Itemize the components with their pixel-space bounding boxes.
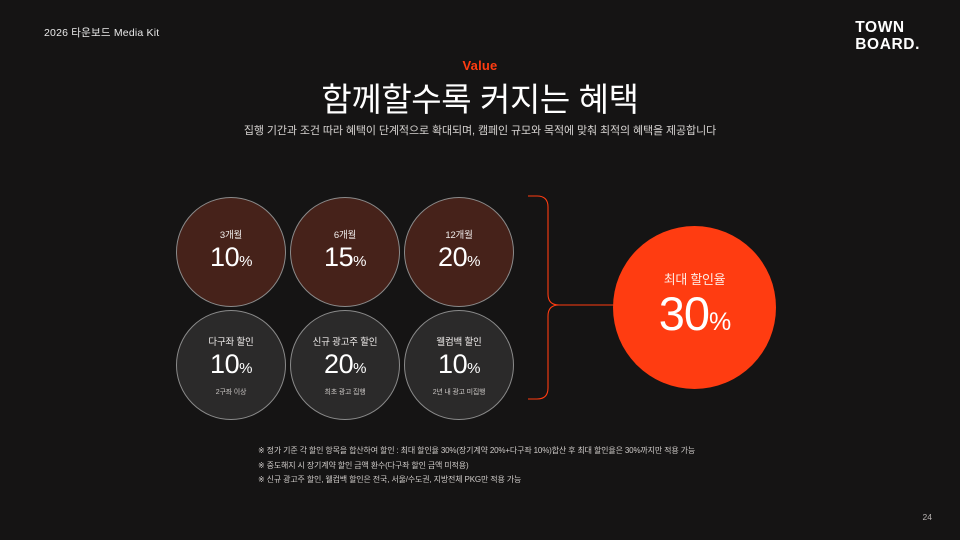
- page-subtitle: 집행 기간과 조건 따라 혜택이 단계적으로 확대되며, 캠페인 규모와 목적에…: [0, 122, 960, 138]
- bracket-connector-icon: [515, 185, 625, 410]
- footnote-item: ※ 중도해지 시 장기계약 할인 금액 환수(다구좌 할인 금액 미적용): [258, 459, 695, 474]
- bonus-value-number: 10: [438, 349, 467, 379]
- page-number: 24: [923, 512, 932, 522]
- logo-line-1: TOWN: [855, 19, 904, 36]
- tier-circle-3m: 3개월 10%: [176, 197, 286, 307]
- tier-value: 10%: [210, 242, 252, 277]
- footnote-item: ※ 신규 광고주 할인, 웰컴백 할인은 전국, 서울/수도권, 지방전체 PK…: [258, 473, 695, 488]
- bonus-label: 다구좌 할인: [208, 334, 253, 348]
- bonus-note: 2년 내 광고 미집행: [433, 387, 486, 397]
- max-discount-label: 최대 할인율: [664, 269, 726, 288]
- tier-circle-12m: 12개월 20%: [404, 197, 514, 307]
- document-title: 2026 타운보드 Media Kit: [44, 25, 159, 40]
- max-discount-circle: 최대 할인율 30%: [613, 226, 776, 389]
- bonus-circle-welcome-back: 웰컴백 할인 10% 2년 내 광고 미집행: [404, 310, 514, 420]
- footnote-list: ※ 정가 기준 각 할인 항목을 합산하여 할인 : 최대 할인율 30%(장기…: [258, 444, 695, 488]
- bonus-value-number: 20: [324, 349, 353, 379]
- bonus-value: 20%: [324, 349, 366, 384]
- max-discount-number: 30: [659, 287, 709, 340]
- bonus-label: 웰컴백 할인: [436, 334, 481, 348]
- section-eyebrow: Value: [0, 58, 960, 73]
- tier-value-unit: %: [353, 253, 366, 270]
- bonus-value-unit: %: [467, 360, 480, 377]
- tier-value-number: 10: [210, 242, 239, 272]
- max-discount-unit: %: [709, 308, 730, 336]
- bonus-note: 2구좌 이상: [216, 387, 246, 397]
- bonus-value: 10%: [438, 349, 480, 384]
- tier-label: 3개월: [220, 227, 242, 241]
- bonus-circle-new-advertiser: 신규 광고주 할인 20% 최초 광고 집행: [290, 310, 400, 420]
- tier-value-number: 20: [438, 242, 467, 272]
- tier-value-number: 15: [324, 242, 353, 272]
- tier-value: 15%: [324, 242, 366, 277]
- bonus-value-unit: %: [239, 360, 252, 377]
- bonus-value-number: 10: [210, 349, 239, 379]
- max-discount-value: 30%: [659, 289, 731, 347]
- brand-logo: TOWN BOARD.: [855, 20, 920, 53]
- tier-label: 12개월: [445, 227, 472, 241]
- tier-value-unit: %: [467, 253, 480, 270]
- bonus-value-unit: %: [353, 360, 366, 377]
- slide-canvas: 2026 타운보드 Media Kit TOWN BOARD. Value 함께…: [0, 0, 960, 540]
- bonus-label: 신규 광고주 할인: [313, 334, 378, 348]
- bonus-circle-multi-slot: 다구좌 할인 10% 2구좌 이상: [176, 310, 286, 420]
- bonus-note: 최초 광고 집행: [325, 387, 366, 397]
- footnote-item: ※ 정가 기준 각 할인 항목을 합산하여 할인 : 최대 할인율 30%(장기…: [258, 444, 695, 459]
- logo-line-2: BOARD.: [855, 37, 920, 54]
- tier-circle-6m: 6개월 15%: [290, 197, 400, 307]
- tier-label: 6개월: [334, 227, 356, 241]
- bonus-value: 10%: [210, 349, 252, 384]
- page-title: 함께할수록 커지는 혜택: [0, 73, 960, 121]
- tier-value-unit: %: [239, 253, 252, 270]
- tier-value: 20%: [438, 242, 480, 277]
